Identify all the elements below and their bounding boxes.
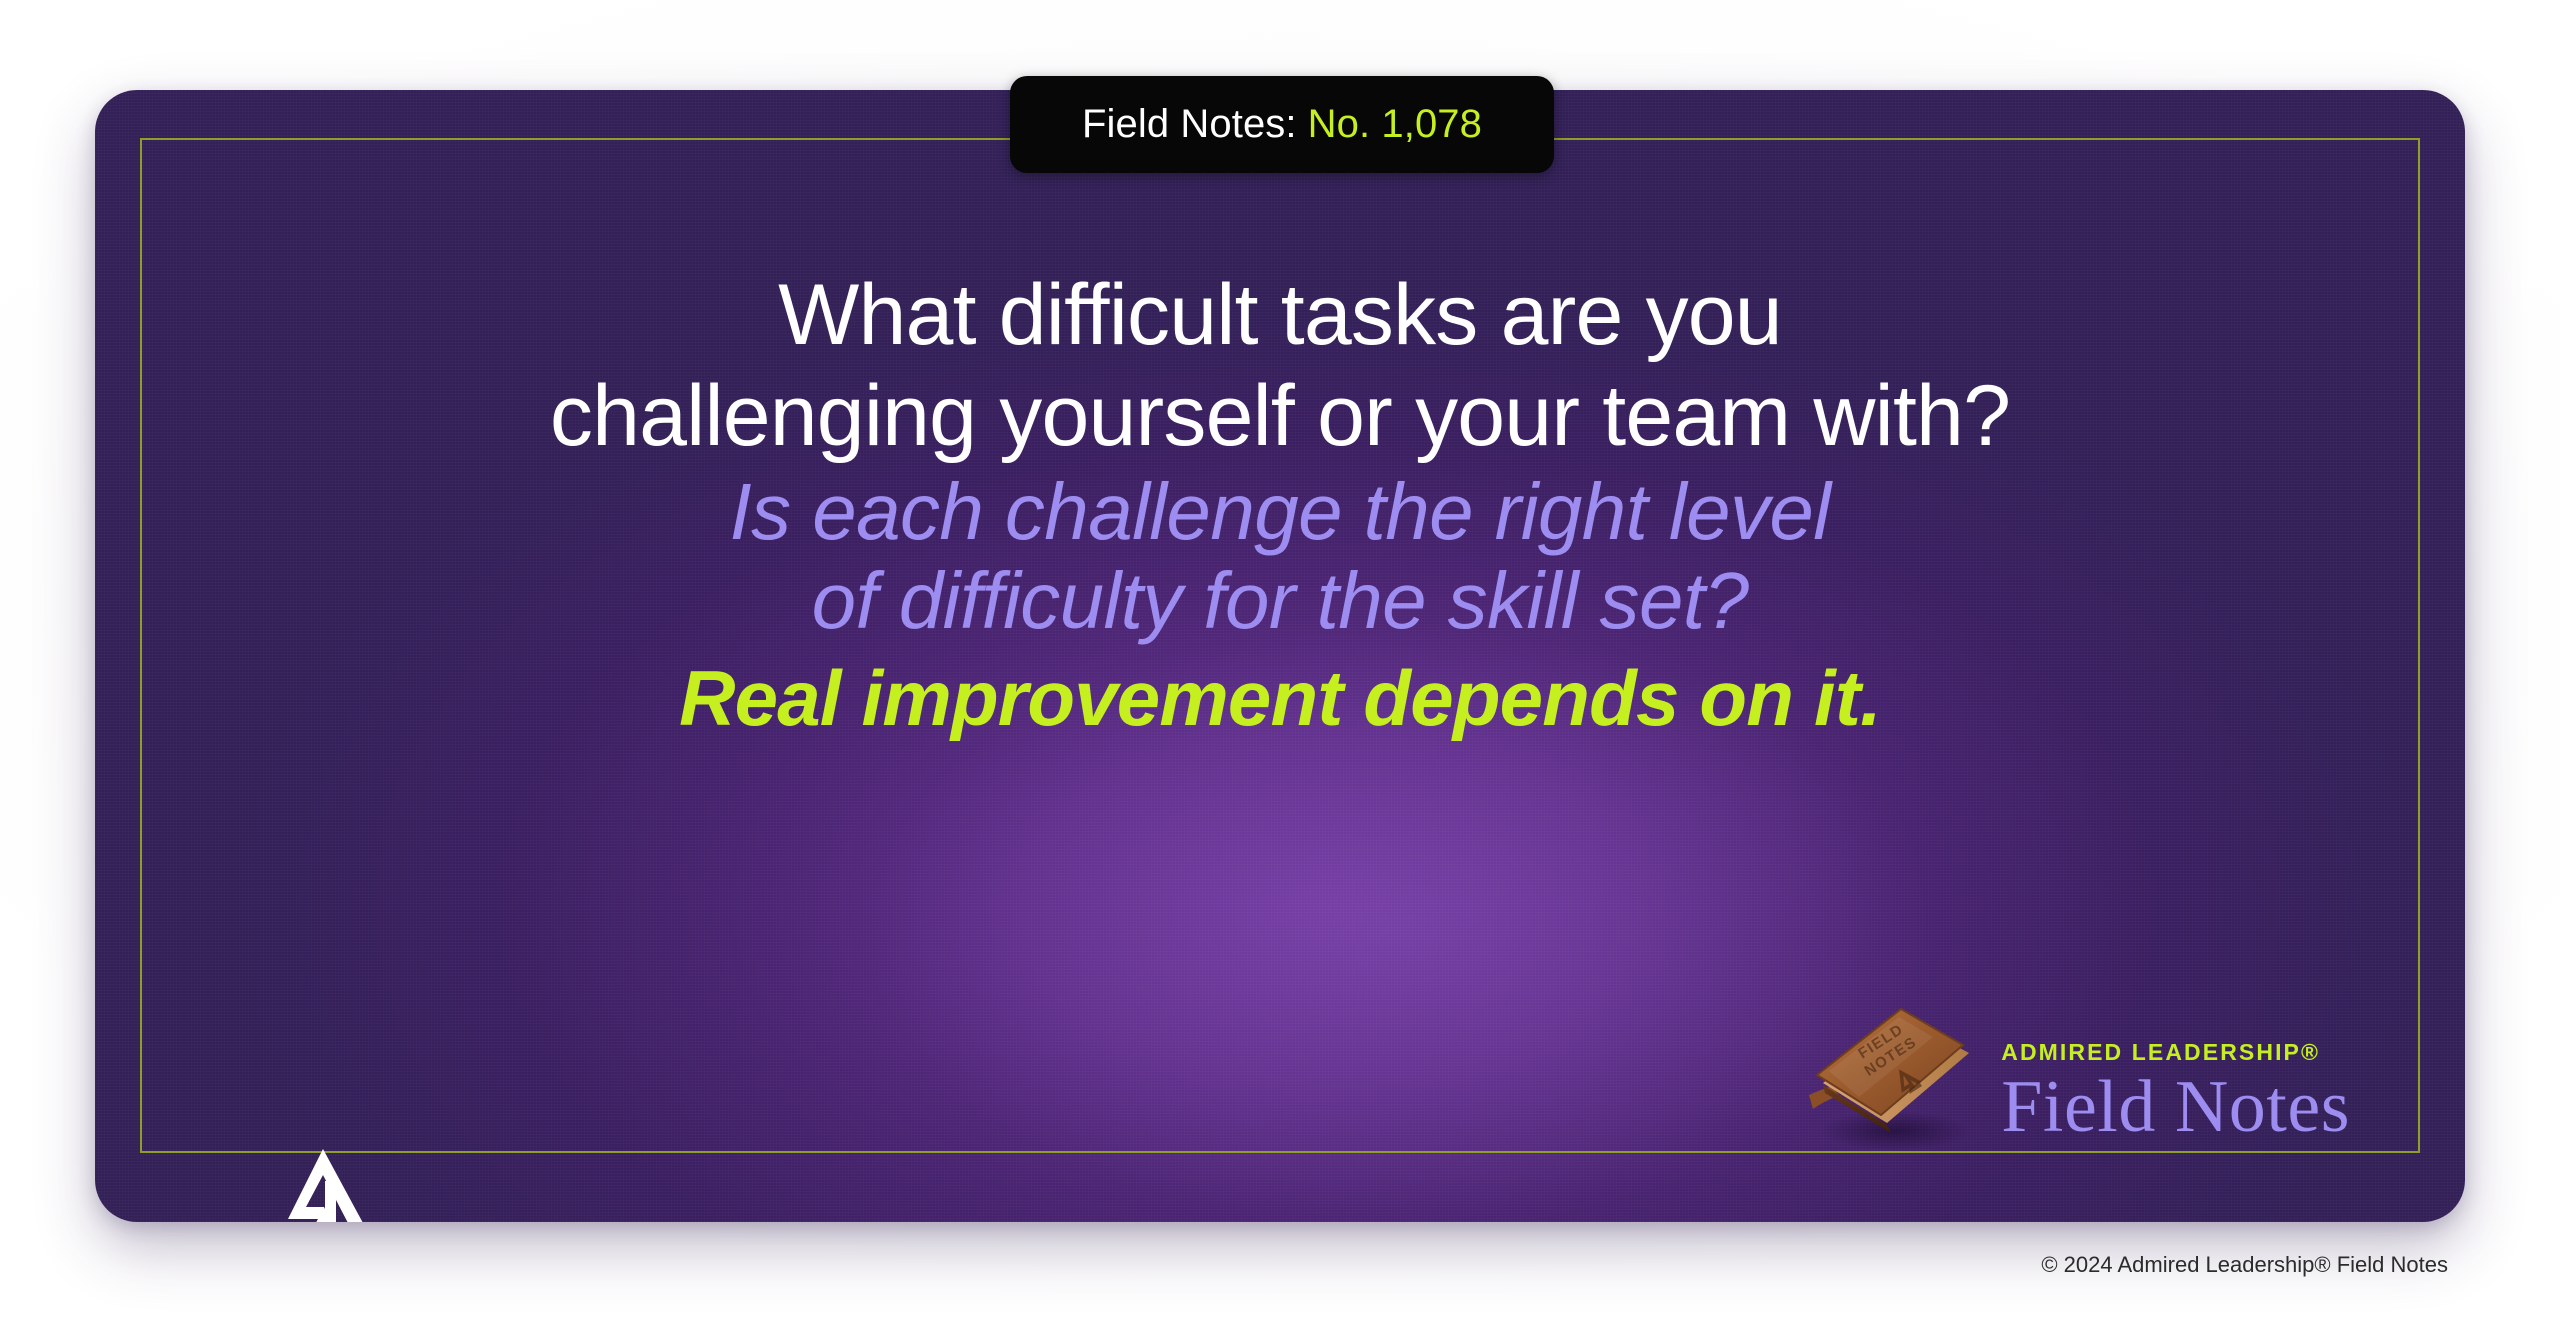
quote-line-4: of difficulty for the skill set? — [0, 561, 2560, 642]
quote-line-3: Is each challenge the right level — [0, 472, 2560, 553]
field-note-number-badge: Field Notes: No. 1,078 — [1010, 76, 1554, 173]
page-canvas: FIELD NOTES ADMIRED LEADERSHIP® Field No… — [0, 0, 2560, 1340]
quote-line-2: challenging yourself or your team with? — [0, 373, 2560, 460]
brand-lockup: FIELD NOTES ADMIRED LEADERSHIP® Field No… — [1787, 991, 2350, 1156]
badge-label: Field Notes: — [1082, 102, 1297, 147]
brand-title: Field Notes — [2001, 1072, 2350, 1142]
badge-number: No. 1,078 — [1308, 102, 1482, 147]
quote-line-5: Real improvement depends on it. — [0, 659, 2560, 738]
field-notes-book-icon: FIELD NOTES — [1787, 991, 1987, 1156]
admired-leadership-logo-icon — [278, 1145, 368, 1222]
quote-block: What difficult tasks are you challenging… — [0, 272, 2560, 738]
copyright-notice: © 2024 Admired Leadership® Field Notes — [2041, 1252, 2448, 1278]
quote-line-1: What difficult tasks are you — [0, 272, 2560, 359]
brand-kicker: ADMIRED LEADERSHIP® — [2001, 1039, 2350, 1066]
brand-text-block: ADMIRED LEADERSHIP® Field Notes — [2001, 1039, 2350, 1156]
